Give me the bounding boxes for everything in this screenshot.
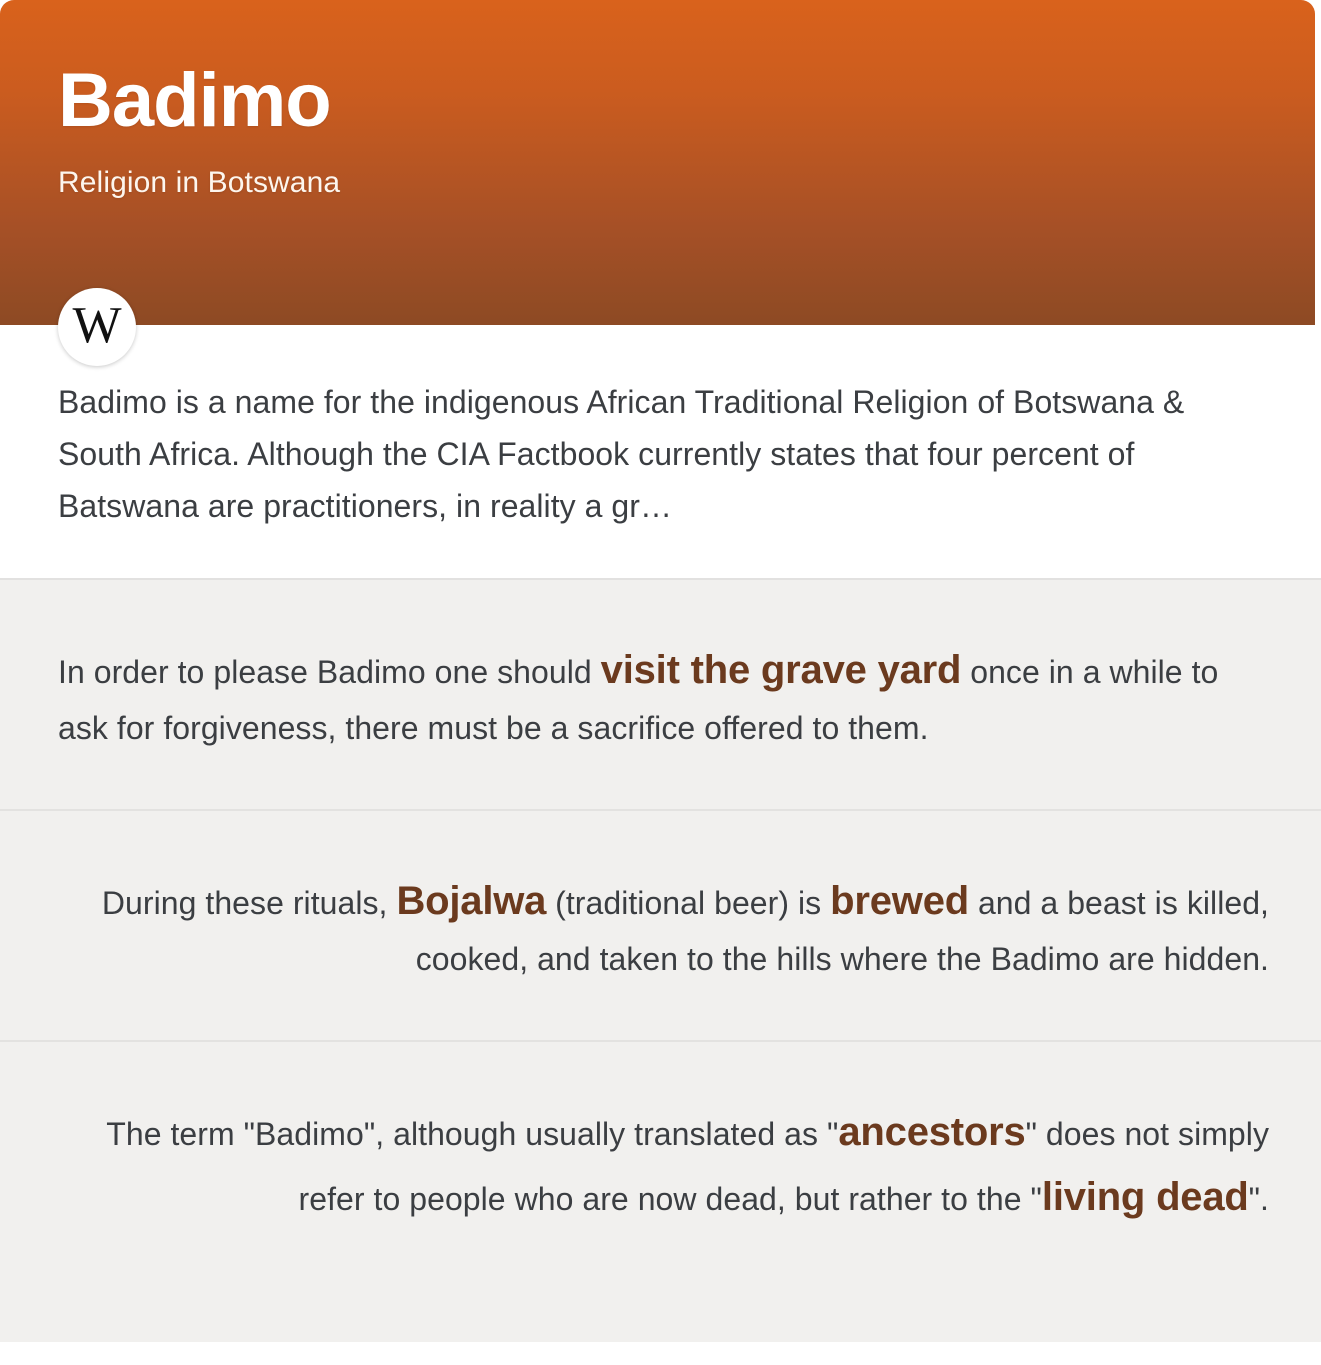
wikipedia-fact-card: Badimo Religion in Botswana W Badimo is …: [0, 0, 1321, 1365]
highlighted-term: ancestors: [838, 1110, 1025, 1154]
plain-text-run: In order to please Badimo one should: [58, 654, 601, 690]
facts-list: In order to please Badimo one should vis…: [0, 580, 1321, 1341]
fact-item: The term "Badimo", although usually tran…: [0, 1042, 1321, 1342]
plain-text-run: ".: [1249, 1181, 1269, 1217]
lead-section: Badimo is a name for the indigenous Afri…: [0, 325, 1321, 580]
fact-text: The term "Badimo", although usually tran…: [58, 1100, 1269, 1230]
page-title: Badimo: [58, 62, 1315, 140]
lead-paragraph: Badimo is a name for the indigenous Afri…: [58, 377, 1253, 532]
wikipedia-w-glyph: W: [72, 300, 121, 352]
plain-text-run: The term "Badimo", although usually tran…: [106, 1116, 838, 1152]
highlighted-term: brewed: [830, 879, 969, 923]
wikipedia-logo-icon[interactable]: W: [58, 288, 136, 366]
page-subtitle: Religion in Botswana: [58, 166, 1315, 200]
plain-text-run: (traditional beer) is: [546, 885, 830, 921]
highlighted-term: visit the grave yard: [601, 648, 962, 692]
highlighted-term: living dead: [1042, 1175, 1249, 1219]
fact-item: In order to please Badimo one should vis…: [0, 580, 1321, 811]
fact-text: During these rituals, Bojalwa (tradition…: [58, 869, 1269, 986]
fact-item: During these rituals, Bojalwa (tradition…: [0, 811, 1321, 1042]
highlighted-term: Bojalwa: [396, 879, 546, 923]
card-header: Badimo Religion in Botswana: [0, 0, 1315, 325]
fact-text: In order to please Badimo one should vis…: [58, 638, 1269, 755]
plain-text-run: During these rituals,: [102, 885, 397, 921]
